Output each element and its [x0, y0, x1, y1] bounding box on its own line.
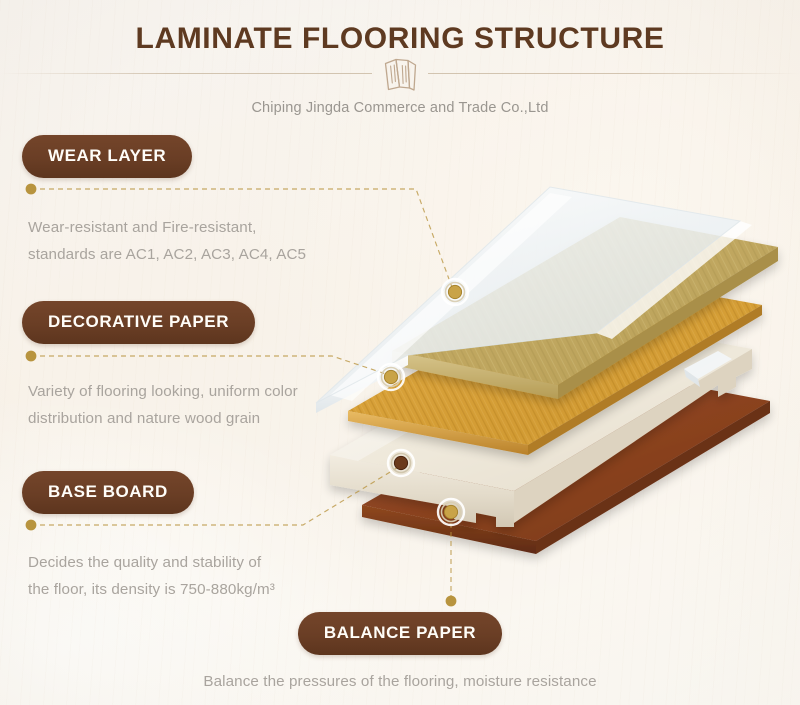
description-base-board: Decides the quality and stability of the… [28, 549, 275, 603]
badge-decorative-paper[interactable]: DECORATIVE PAPER [22, 301, 255, 344]
callout-base-board: BASE BOARD Decides the quality and stabi… [22, 471, 275, 603]
company-name: Chiping Jingda Commerce and Trade Co.,Lt… [0, 100, 800, 116]
badge-balance-paper[interactable]: BALANCE PAPER [298, 612, 502, 655]
divider-right [428, 73, 800, 74]
flooring-planks-icon [378, 54, 422, 94]
badge-base-board[interactable]: BASE BOARD [22, 471, 194, 514]
callout-balance-paper: BALANCE PAPER Balance the pressures of t… [0, 612, 800, 695]
description-wear-layer: Wear-resistant and Fire-resistant, stand… [28, 214, 306, 268]
callout-wear-layer: WEAR LAYER Wear-resistant and Fire-resis… [22, 135, 306, 268]
description-decorative-paper: Variety of flooring looking, uniform col… [28, 378, 298, 432]
callout-decorative-paper: DECORATIVE PAPER Variety of flooring loo… [22, 301, 298, 432]
exploded-laminate-plank-diagram [300, 155, 800, 575]
divider-left [0, 73, 372, 74]
header: LAMINATE FLOORING STRUCTURE Chiping Jing… [0, 0, 800, 125]
page-title: LAMINATE FLOORING STRUCTURE [0, 22, 800, 56]
description-balance-paper: Balance the pressures of the flooring, m… [0, 668, 800, 695]
badge-wear-layer[interactable]: WEAR LAYER [22, 135, 192, 178]
